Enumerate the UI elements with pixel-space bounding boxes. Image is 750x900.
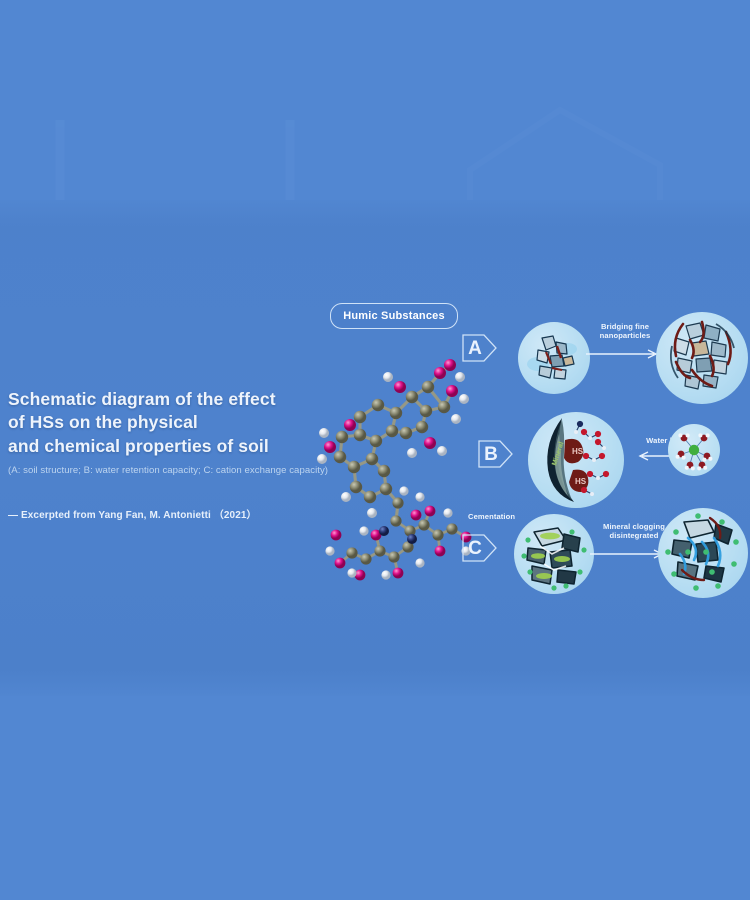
svg-text:HS: HS [575,477,587,486]
page-title: Schematic diagram of the effect of HSs o… [8,388,338,458]
row-a-right-circle [656,312,748,404]
row-c-right-circle [658,508,748,598]
row-a-tag: A [460,330,500,366]
row-c: Cementation C [460,508,750,604]
title-line-2: of HSs on the physical [8,411,338,434]
row-a-letter: A [465,334,485,362]
page-subtitle: (A: soil structure; B: water retention c… [8,465,338,478]
row-c-prefix-label: Cementation [468,512,515,521]
row-b-left-circle: HS HS Mineral [528,412,624,508]
nitrogen-atom [407,534,417,544]
row-a: A [460,312,750,408]
row-a-left-circle [518,322,590,394]
row-b-letter: B [481,440,501,468]
row-b-tag: B [476,436,516,472]
row-c-letter: C [465,534,485,562]
svg-text:HS: HS [572,447,584,456]
row-a-arrow-icon [586,348,664,360]
title-line-1: Schematic diagram of the effect [8,388,338,411]
source-credit: — Excerpted from Yang Fan, M. Antonietti… [8,506,257,521]
band-top-fade [0,200,750,226]
row-b-right-circle [668,424,720,476]
row-c-tag: C [460,530,500,566]
row-b: B HS HS Mineral [460,412,750,514]
row-c-left-circle [514,514,594,594]
text-block: Schematic diagram of the effect of HSs o… [8,388,338,478]
title-line-3: and chemical properties of soil [8,435,338,458]
band-bottom-fade [0,670,750,696]
figure-canvas: Schematic diagram of the effect of HSs o… [0,0,750,900]
cation-sphere [689,445,699,455]
